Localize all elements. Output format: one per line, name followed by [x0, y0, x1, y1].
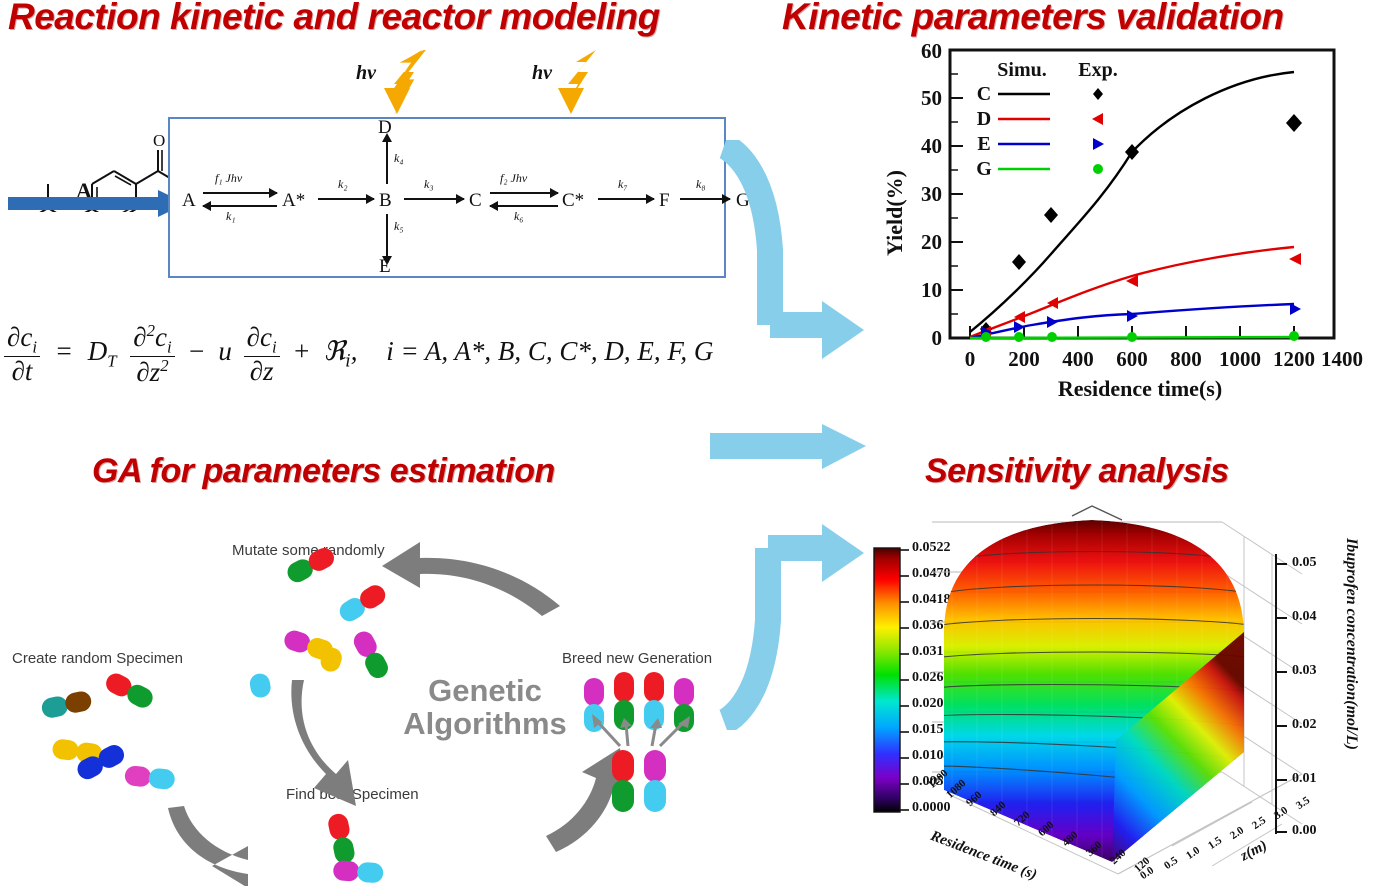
y-tick-50: 50: [921, 86, 942, 110]
ga-cluster-find-best: [326, 812, 383, 883]
x-tick-600: 600: [1116, 347, 1148, 371]
y-tick-40: 40: [921, 134, 942, 158]
y-tick-30: 30: [921, 182, 942, 206]
x-axis-title: Residence time(s): [1058, 376, 1222, 401]
species-F: F: [659, 190, 670, 212]
z-tick-1: 0.04: [1292, 609, 1317, 625]
eq-velocity: u: [218, 336, 232, 366]
legend-label-D: D: [977, 108, 991, 130]
eq-advection-term: ∂ci ∂z: [244, 323, 280, 385]
eq-comma: ,: [351, 336, 358, 366]
z-tick-3: 0.02: [1292, 717, 1317, 733]
validation-chart: 0 10 20 30 40 50 60 0 200 400 600 800 10…: [872, 38, 1372, 408]
ga-cluster-mutate: [248, 545, 391, 700]
x-tick-labels: 0 200 400 600 800 1000 1200 1400: [965, 347, 1363, 371]
photon-label-1: hv: [356, 62, 376, 85]
ga-cluster-create-random: [40, 670, 176, 790]
y-tick-0: 0: [932, 326, 943, 350]
flow-arrow-middle-icon: [710, 424, 870, 470]
z-tick-5: 0.00: [1292, 823, 1317, 839]
species-A-star: A*: [282, 190, 305, 212]
pde-equation: ∂ci ∂t = DT ∂2ci ∂z2 − u ∂ci ∂z + ℜi, i …: [4, 322, 713, 386]
eq-minus: −: [187, 336, 205, 366]
section-title-kinetics: Reaction kinetic and reactor modeling: [8, 0, 660, 38]
rate-forward-2: f₂ Jhv: [500, 171, 527, 186]
legend-header-exp: Exp.: [1078, 59, 1117, 81]
species-B: B: [379, 190, 392, 212]
genetic-algorithm-diagram: Create random Specimen Mutate some rando…: [0, 520, 790, 886]
x-tick-800: 800: [1170, 347, 1202, 371]
z-tick-2: 0.03: [1292, 663, 1317, 679]
eq-lhs: ∂ci ∂t: [4, 323, 40, 385]
y-tick-labels: 0 10 20 30 40 50 60: [921, 39, 942, 350]
lightning-bolt-icon-2: [556, 48, 608, 118]
x-tick-400: 400: [1062, 347, 1094, 371]
reaction-scheme-panel: A f₁ Jhv k₁ A* k₂ B k₄ D k₅ E k₃ C f₂ Jh…: [168, 117, 726, 278]
eq-reaction-term: ℜi: [323, 336, 350, 367]
rate-reverse-2: k₆: [514, 209, 524, 224]
eq-index-set: i = A, A*, B, C, C*, D, E, F, G: [386, 336, 713, 366]
eq-plus: +: [292, 336, 310, 366]
rate-k4: k₄: [394, 151, 404, 166]
x-tick-1200: 1200: [1273, 347, 1315, 371]
species-C-star: C*: [562, 190, 584, 212]
photon-label-2: hv: [532, 62, 552, 85]
graphical-abstract: Reaction kinetic and reactor modeling Ki…: [0, 0, 1375, 886]
z-tick-4: 0.01: [1292, 771, 1317, 787]
section-title-ga: GA for parameters estimation: [92, 452, 555, 491]
legend-header-simu: Simu.: [997, 59, 1046, 81]
z-tick-0: 0.05: [1292, 555, 1317, 571]
y-tick-20: 20: [921, 230, 942, 254]
x-tick-0: 0: [965, 347, 976, 371]
rate-k2: k₂: [338, 177, 348, 192]
colorbar: [870, 546, 910, 816]
y-axis-title: Yield(%): [882, 170, 907, 256]
ga-cycle-arrows: [168, 542, 626, 886]
legend-label-G: G: [976, 158, 992, 180]
eq-equals: =: [55, 336, 73, 366]
feed-arrow-icon: [8, 190, 186, 220]
legend-label-E: E: [977, 133, 990, 155]
species-C: C: [469, 190, 482, 212]
species-D: D: [378, 117, 392, 139]
flow-arrow-scheme-to-chart-icon: [712, 140, 872, 380]
atom-label-O: O: [153, 131, 165, 150]
lightning-bolt-icon-1: [382, 48, 434, 118]
y-tick-10: 10: [921, 278, 942, 302]
rate-forward-1: f₁ Jhv: [215, 171, 242, 186]
y-tick-60: 60: [921, 39, 942, 63]
eq-diffusion-term: ∂2ci ∂z2: [130, 322, 174, 386]
section-title-sensitivity: Sensitivity analysis: [925, 452, 1229, 491]
rate-reverse-1: k₁: [226, 209, 236, 224]
rate-k5: k₅: [394, 219, 404, 234]
ga-graphics: [0, 520, 790, 886]
sensitivity-surface-plot: 0.0522 0.0470 0.0418 0.0365 0.0313 0.026…: [860, 500, 1375, 886]
rate-k8: k₈: [696, 177, 706, 192]
rate-k3: k₃: [424, 177, 434, 192]
section-title-validation: Kinetic parameters validation: [782, 0, 1284, 38]
z-axis-title: Ibuprofen concentration(mol/L): [1342, 538, 1360, 838]
rate-k7: k₇: [618, 177, 628, 192]
x-tick-1000: 1000: [1219, 347, 1261, 371]
x-tick-200: 200: [1008, 347, 1040, 371]
species-E: E: [379, 256, 391, 278]
x-tick-1400: 1400: [1321, 347, 1363, 371]
species-A: A: [182, 190, 196, 212]
eq-diffusion-coeff: DT: [88, 336, 117, 366]
z-axis-line: [1272, 550, 1300, 840]
legend-label-C: C: [977, 83, 991, 105]
